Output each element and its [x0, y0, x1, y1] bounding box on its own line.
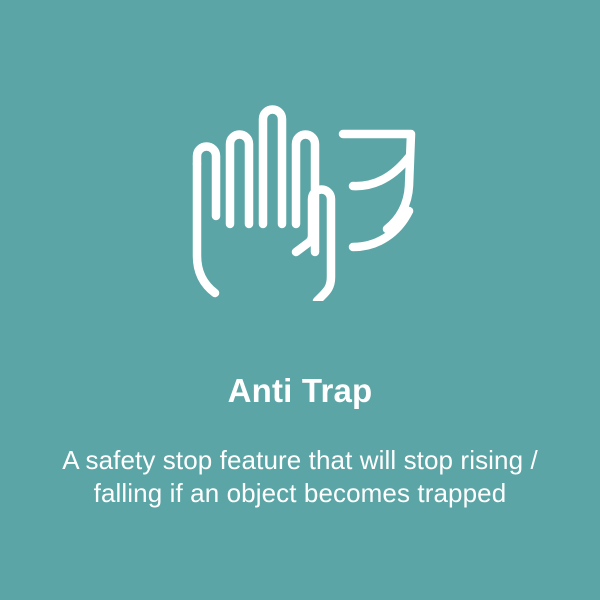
barrier-upper-arm-path: [353, 157, 409, 186]
anti-trap-hand-icon: [175, 86, 425, 301]
page-title: Anti Trap: [0, 372, 600, 410]
icon-area: [0, 78, 600, 308]
feature-description: A safety stop feature that will stop ris…: [0, 444, 600, 510]
ring-finger-path: [230, 134, 249, 224]
middle-finger-path: [263, 109, 282, 224]
anti-trap-feature-card: Anti Trap A safety stop feature that wil…: [0, 0, 600, 600]
